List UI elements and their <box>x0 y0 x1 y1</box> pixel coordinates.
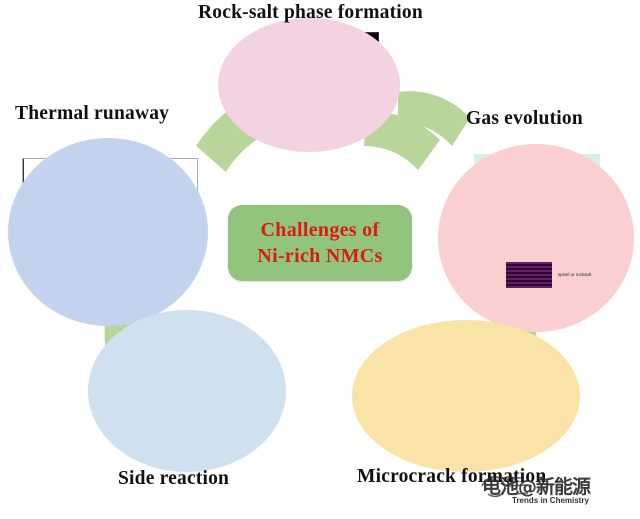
bubble-rock-salt <box>218 18 400 152</box>
center-title-line-1: Challenges of <box>261 217 380 243</box>
heading-rock-salt-phase-formation: Rock-salt phase formation <box>198 2 423 24</box>
watermark-english-text: Trends in Chemistry <box>512 496 589 505</box>
center-title-line-2: Ni-rich NMCs <box>257 243 382 269</box>
center-title-box: Challenges of Ni-rich NMCs <box>228 205 412 281</box>
figure-canvas: b) Cation mixed phase TM slab Li slab [0… <box>0 0 640 519</box>
watermark: 电池@新能源 Trends in Chemistry <box>478 470 636 516</box>
gas-label-spinel-rocksalt: spinel or rocksalt <box>558 272 591 277</box>
gas-bottom-image <box>506 262 552 288</box>
bubble-thermal-runaway <box>8 138 208 326</box>
bubble-side-reaction <box>88 310 286 472</box>
heading-gas-evolution: Gas evolution <box>466 108 583 130</box>
bubble-microcrack <box>352 320 580 472</box>
heading-thermal-runaway: Thermal runaway <box>15 103 169 125</box>
heading-side-reaction: Side reaction <box>118 468 229 490</box>
bubble-gas-evolution <box>438 144 634 332</box>
watermark-chinese-text: 电池@新能源 <box>482 472 590 499</box>
